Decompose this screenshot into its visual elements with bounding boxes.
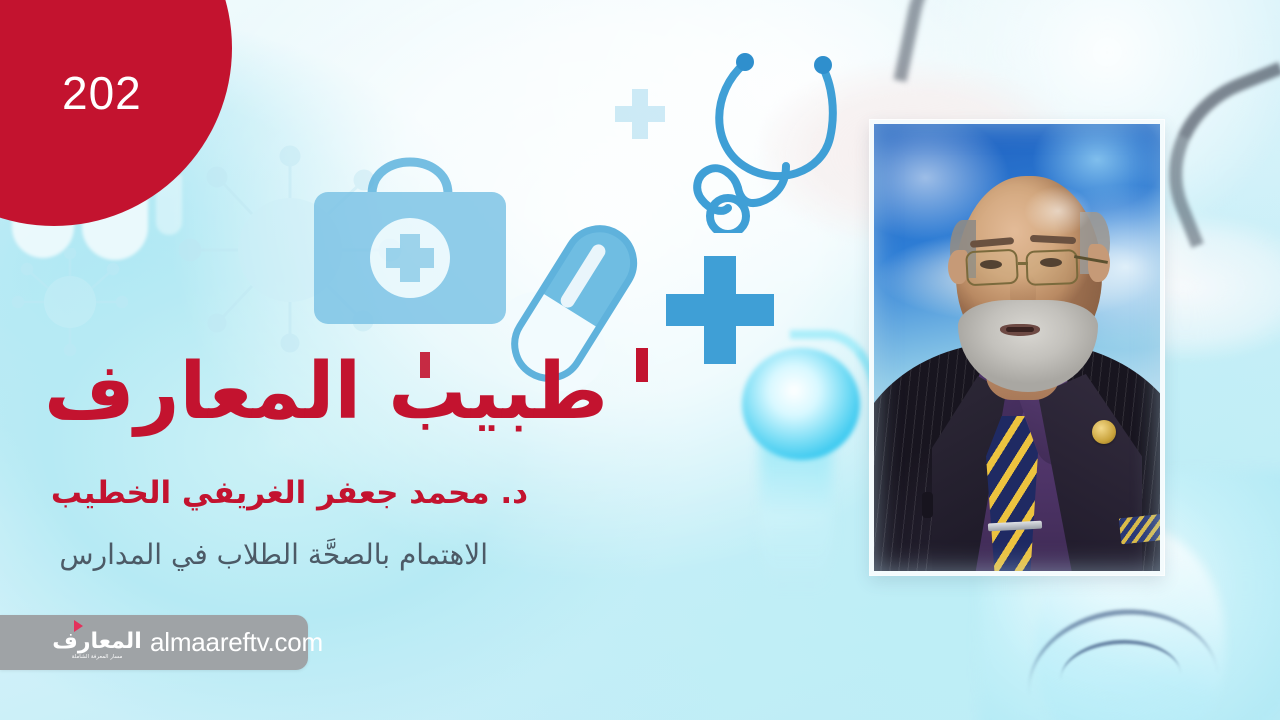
stethoscope-icon	[672, 38, 887, 233]
guest-head-highlight	[1024, 186, 1092, 236]
play-triangle-icon	[74, 620, 83, 632]
guest-pocket-square	[1119, 514, 1160, 545]
guest-photo-frame	[870, 120, 1164, 575]
program-title: طبيب المعارف	[0, 352, 720, 434]
guest-lapel-microphone	[922, 492, 933, 518]
episode-number-label: 202	[62, 66, 142, 120]
almaaref-logo[interactable]: المعارف مسار المعرفة الشاملة	[58, 623, 136, 663]
channel-logo-bar[interactable]: المعارف مسار المعرفة الشاملة almaareftv.…	[0, 615, 308, 670]
medical-bag-icon	[300, 150, 520, 340]
medical-cross-icon	[612, 86, 668, 142]
eyeglasses-bridge	[1018, 262, 1028, 265]
title-block: طبيب المعارف	[0, 352, 720, 434]
channel-website-url[interactable]: almaareftv.com	[150, 627, 323, 658]
guest-name: د. محمد جعفر الغريفي الخطيب	[0, 475, 640, 511]
broadcast-title-card: 202 طبيب المعارف د. محمد جعفر الغريفي ال…	[0, 0, 1280, 720]
episode-topic: الاهتمام بالصحَّة الطلاب في المدارس	[0, 538, 600, 571]
guest-mouth-opening	[1006, 327, 1034, 332]
logo-arabic-wordmark: المعارف	[52, 631, 141, 653]
guest-lapel-pin	[1092, 420, 1116, 444]
guest-photo	[874, 124, 1160, 571]
logo-tagline: مسار المعرفة الشاملة	[72, 655, 123, 661]
guest-necktie	[986, 416, 1038, 571]
